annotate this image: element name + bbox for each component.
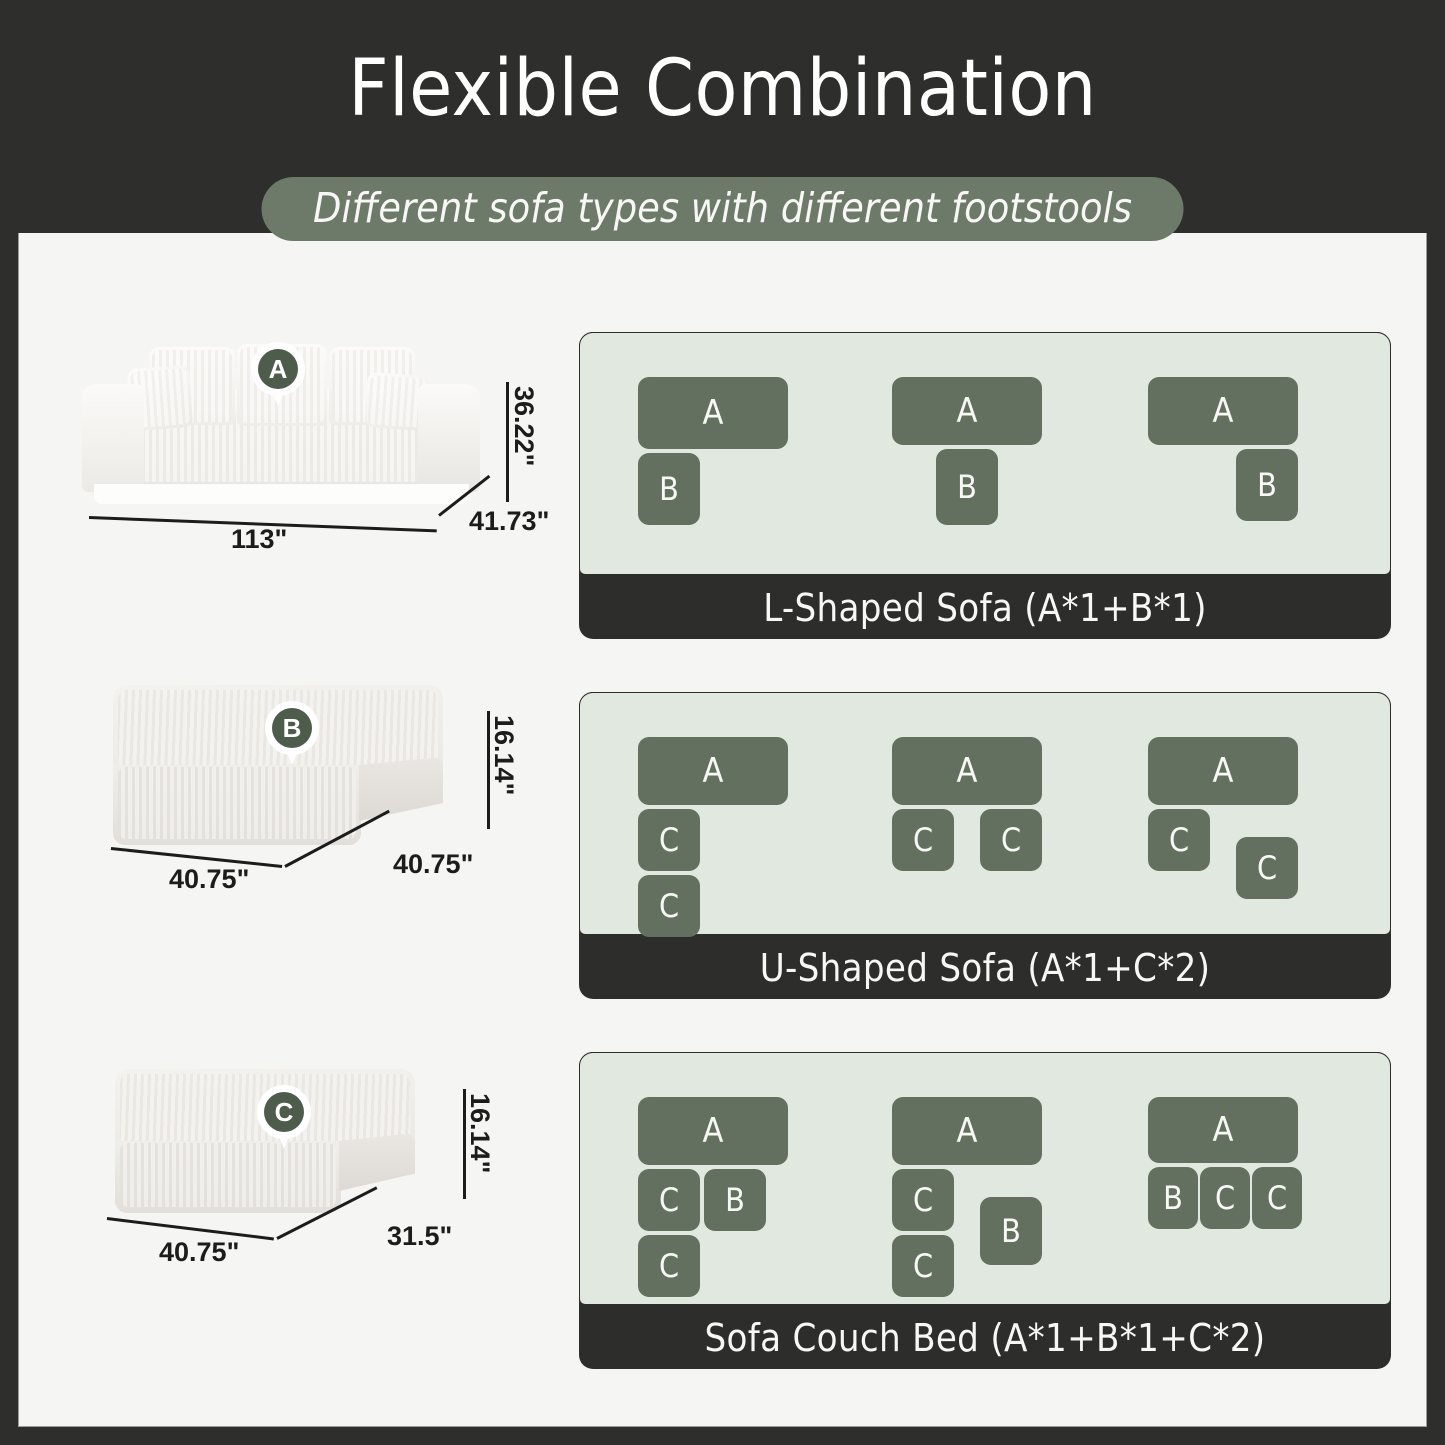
pin-marker-b: B [265,701,319,767]
module-block-c[interactable]: C [638,875,700,937]
module-block-a[interactable]: A [1148,377,1298,445]
module-block-c[interactable]: C [638,1169,700,1231]
pin-marker-c: C [257,1085,311,1151]
config-panel-l-shaped[interactable]: ABABAB L-Shaped Sofa (A*1+B*1) [579,332,1391,639]
module-block-c[interactable]: C [1236,837,1298,899]
pin-label-a: A [258,349,298,389]
module-block-b[interactable]: B [1236,449,1298,521]
module-block-b[interactable]: B [704,1169,766,1231]
module-block-c[interactable]: C [638,1235,700,1297]
config-panel-u-shaped[interactable]: ACCACCACC U-Shaped Sofa (A*1+C*2) [579,692,1391,999]
module-block-b[interactable]: B [980,1197,1042,1265]
config-caption-sofa-couch-bed: Sofa Couch Bed (A*1+B*1+C*2) [579,1307,1391,1369]
page-title: Flexible Combination [0,50,1445,128]
config-board: ACBCACBCABCC [579,1052,1391,1305]
module-block-b[interactable]: B [1148,1167,1198,1229]
module-block-c[interactable]: C [1252,1167,1302,1229]
module-block-c[interactable]: C [980,809,1042,871]
module-block-c[interactable]: C [892,1235,954,1297]
subtitle-text: Different sofa types with different foot… [313,184,1132,232]
config-panel-sofa-couch-bed[interactable]: ACBCACBCABCC Sofa Couch Bed (A*1+B*1+C*2… [579,1052,1391,1369]
module-block-a[interactable]: A [638,1097,788,1165]
module-block-c[interactable]: C [892,1169,954,1231]
pin-label-b: B [272,708,312,748]
config-caption-l-shaped: L-Shaped Sofa (A*1+B*1) [579,577,1391,639]
header-banner: Flexible Combination Different sofa type… [0,0,1445,233]
pin-label-c: C [264,1092,304,1132]
module-block-b[interactable]: B [936,449,998,525]
subtitle-pill: Different sofa types with different foot… [261,177,1184,241]
module-block-a[interactable]: A [892,1097,1042,1165]
config-board: ABABAB [579,332,1391,575]
module-block-c[interactable]: C [1148,809,1210,871]
module-block-a[interactable]: A [892,377,1042,445]
pin-marker-a: A [251,342,305,408]
module-block-a[interactable]: A [1148,1097,1298,1163]
config-caption-u-shaped: U-Shaped Sofa (A*1+C*2) [579,937,1391,999]
module-block-a[interactable]: A [1148,737,1298,805]
module-block-b[interactable]: B [638,453,700,525]
module-block-c[interactable]: C [638,809,700,871]
module-block-a[interactable]: A [892,737,1042,805]
module-block-c[interactable]: C [1200,1167,1250,1229]
content-canvas: A 36.22" 113" 41.73" B [18,213,1427,1427]
configuration-panel-column: ABABAB L-Shaped Sofa (A*1+B*1) ACCACCACC… [19,214,1426,1426]
module-block-a[interactable]: A [638,377,788,449]
module-block-a[interactable]: A [638,737,788,805]
module-block-c[interactable]: C [892,809,954,871]
config-board: ACCACCACC [579,692,1391,935]
